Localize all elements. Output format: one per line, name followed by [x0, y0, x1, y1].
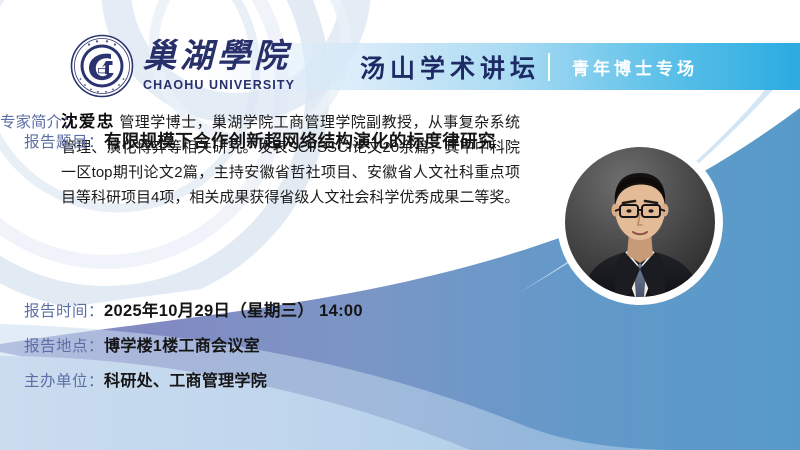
report-time-value: 2025年10月29日（星期三） 14:00	[104, 302, 363, 320]
university-name-block: 巢湖學院 CHAOHU UNIVERSITY	[143, 41, 295, 92]
speaker-portrait	[561, 143, 719, 301]
organizer-label: 主办单位：	[24, 373, 104, 390]
speaker-bio-body: 沈爱忠 管理学博士，巢湖学院工商管理学院副教授，从事复杂系统管理、演化博弈等相关…	[61, 110, 520, 210]
report-time-row: 报告时间：2025年10月29日（星期三） 14:00	[24, 297, 363, 321]
speaker-bio-row: 专家简介： 沈爱忠 管理学博士，巢湖学院工商管理学院副教授，从事复杂系统管理、演…	[0, 110, 520, 210]
organizer-value: 科研处、工商管理学院	[104, 373, 267, 390]
poster-root: 汤山学术讲坛 青年博士专场	[0, 0, 800, 450]
report-place-value: 博学楼1楼工商会议室	[104, 338, 260, 355]
report-time-label: 报告时间：	[24, 303, 104, 320]
speaker-portrait-image	[565, 147, 715, 297]
report-place-label: 报告地点：	[24, 338, 104, 355]
report-title-value: 有限规模下合作创新超网络结构演化的标度律研究	[104, 131, 496, 151]
banner-separator-icon	[548, 53, 550, 81]
university-logo: 巢湖學院 CHAOHU UNIVERSITY	[70, 34, 295, 98]
report-place-row: 报告地点：博学楼1楼工商会议室	[24, 332, 260, 356]
chaohu-university-seal-icon	[70, 34, 134, 98]
banner-subtitle: 青年博士专场	[572, 54, 698, 79]
banner-title: 汤山学术讲坛	[360, 49, 540, 85]
poster-header: 汤山学术讲坛 青年博士专场	[0, 0, 800, 110]
speaker-bio-label: 专家简介：	[0, 110, 78, 132]
report-title-row: 报告题目：有限规模下合作创新超网络结构演化的标度律研究	[24, 128, 496, 153]
university-name-en: CHAOHU UNIVERSITY	[143, 79, 295, 92]
organizer-row: 主办单位：科研处、工商管理学院	[24, 367, 267, 391]
report-title-label: 报告题目：	[24, 134, 104, 151]
university-name-cn: 巢湖學院	[143, 41, 295, 74]
